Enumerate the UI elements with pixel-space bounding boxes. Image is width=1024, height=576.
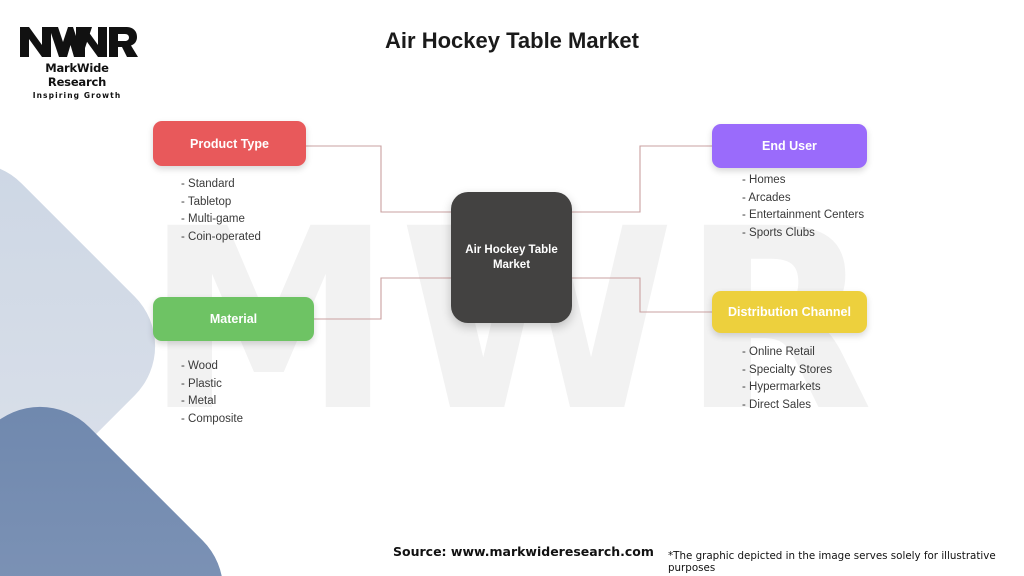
branch-node-material[interactable]: Material <box>153 297 314 341</box>
list-item: - Wood <box>181 358 243 376</box>
source-label: Source: www.markwideresearch.com <box>393 544 654 559</box>
list-item: - Sports Clubs <box>742 225 864 243</box>
branch-list-product-type: - Standard - Tabletop - Multi-game - Coi… <box>181 176 261 246</box>
connector-product-type <box>306 146 452 212</box>
connector-end-user <box>571 146 712 212</box>
branch-list-end-user: - Homes - Arcades - Entertainment Center… <box>742 172 864 242</box>
branch-node-product-type[interactable]: Product Type <box>153 121 306 166</box>
list-item: - Hypermarkets <box>742 379 832 397</box>
list-item: - Standard <box>181 176 261 194</box>
branch-list-distribution-channel: - Online Retail - Specialty Stores - Hyp… <box>742 344 832 414</box>
connector-material <box>314 278 452 319</box>
center-node[interactable]: Air Hockey Table Market <box>451 192 572 323</box>
disclaimer-label: *The graphic depicted in the image serve… <box>668 550 1024 574</box>
branch-list-material: - Wood - Plastic - Metal - Composite <box>181 358 243 428</box>
infographic-canvas: MWR MarkWide Research Inspiring Growth A… <box>0 0 1024 576</box>
list-item: - Arcades <box>742 190 864 208</box>
list-item: - Metal <box>181 393 243 411</box>
branch-label-end-user: End User <box>762 139 817 153</box>
list-item: - Homes <box>742 172 864 190</box>
list-item: - Direct Sales <box>742 397 832 415</box>
connector-distribution-channel <box>571 278 712 312</box>
list-item: - Tabletop <box>181 194 261 212</box>
list-item: - Coin-operated <box>181 229 261 247</box>
branch-label-material: Material <box>210 312 257 326</box>
list-item: - Composite <box>181 411 243 429</box>
center-node-label: Air Hockey Table Market <box>451 243 572 273</box>
branch-label-product-type: Product Type <box>190 137 269 151</box>
branch-label-distribution-channel: Distribution Channel <box>728 305 851 319</box>
branch-node-distribution-channel[interactable]: Distribution Channel <box>712 291 867 333</box>
list-item: - Specialty Stores <box>742 362 832 380</box>
list-item: - Multi-game <box>181 211 261 229</box>
list-item: - Plastic <box>181 376 243 394</box>
branch-node-end-user[interactable]: End User <box>712 124 867 168</box>
list-item: - Entertainment Centers <box>742 207 864 225</box>
list-item: - Online Retail <box>742 344 832 362</box>
